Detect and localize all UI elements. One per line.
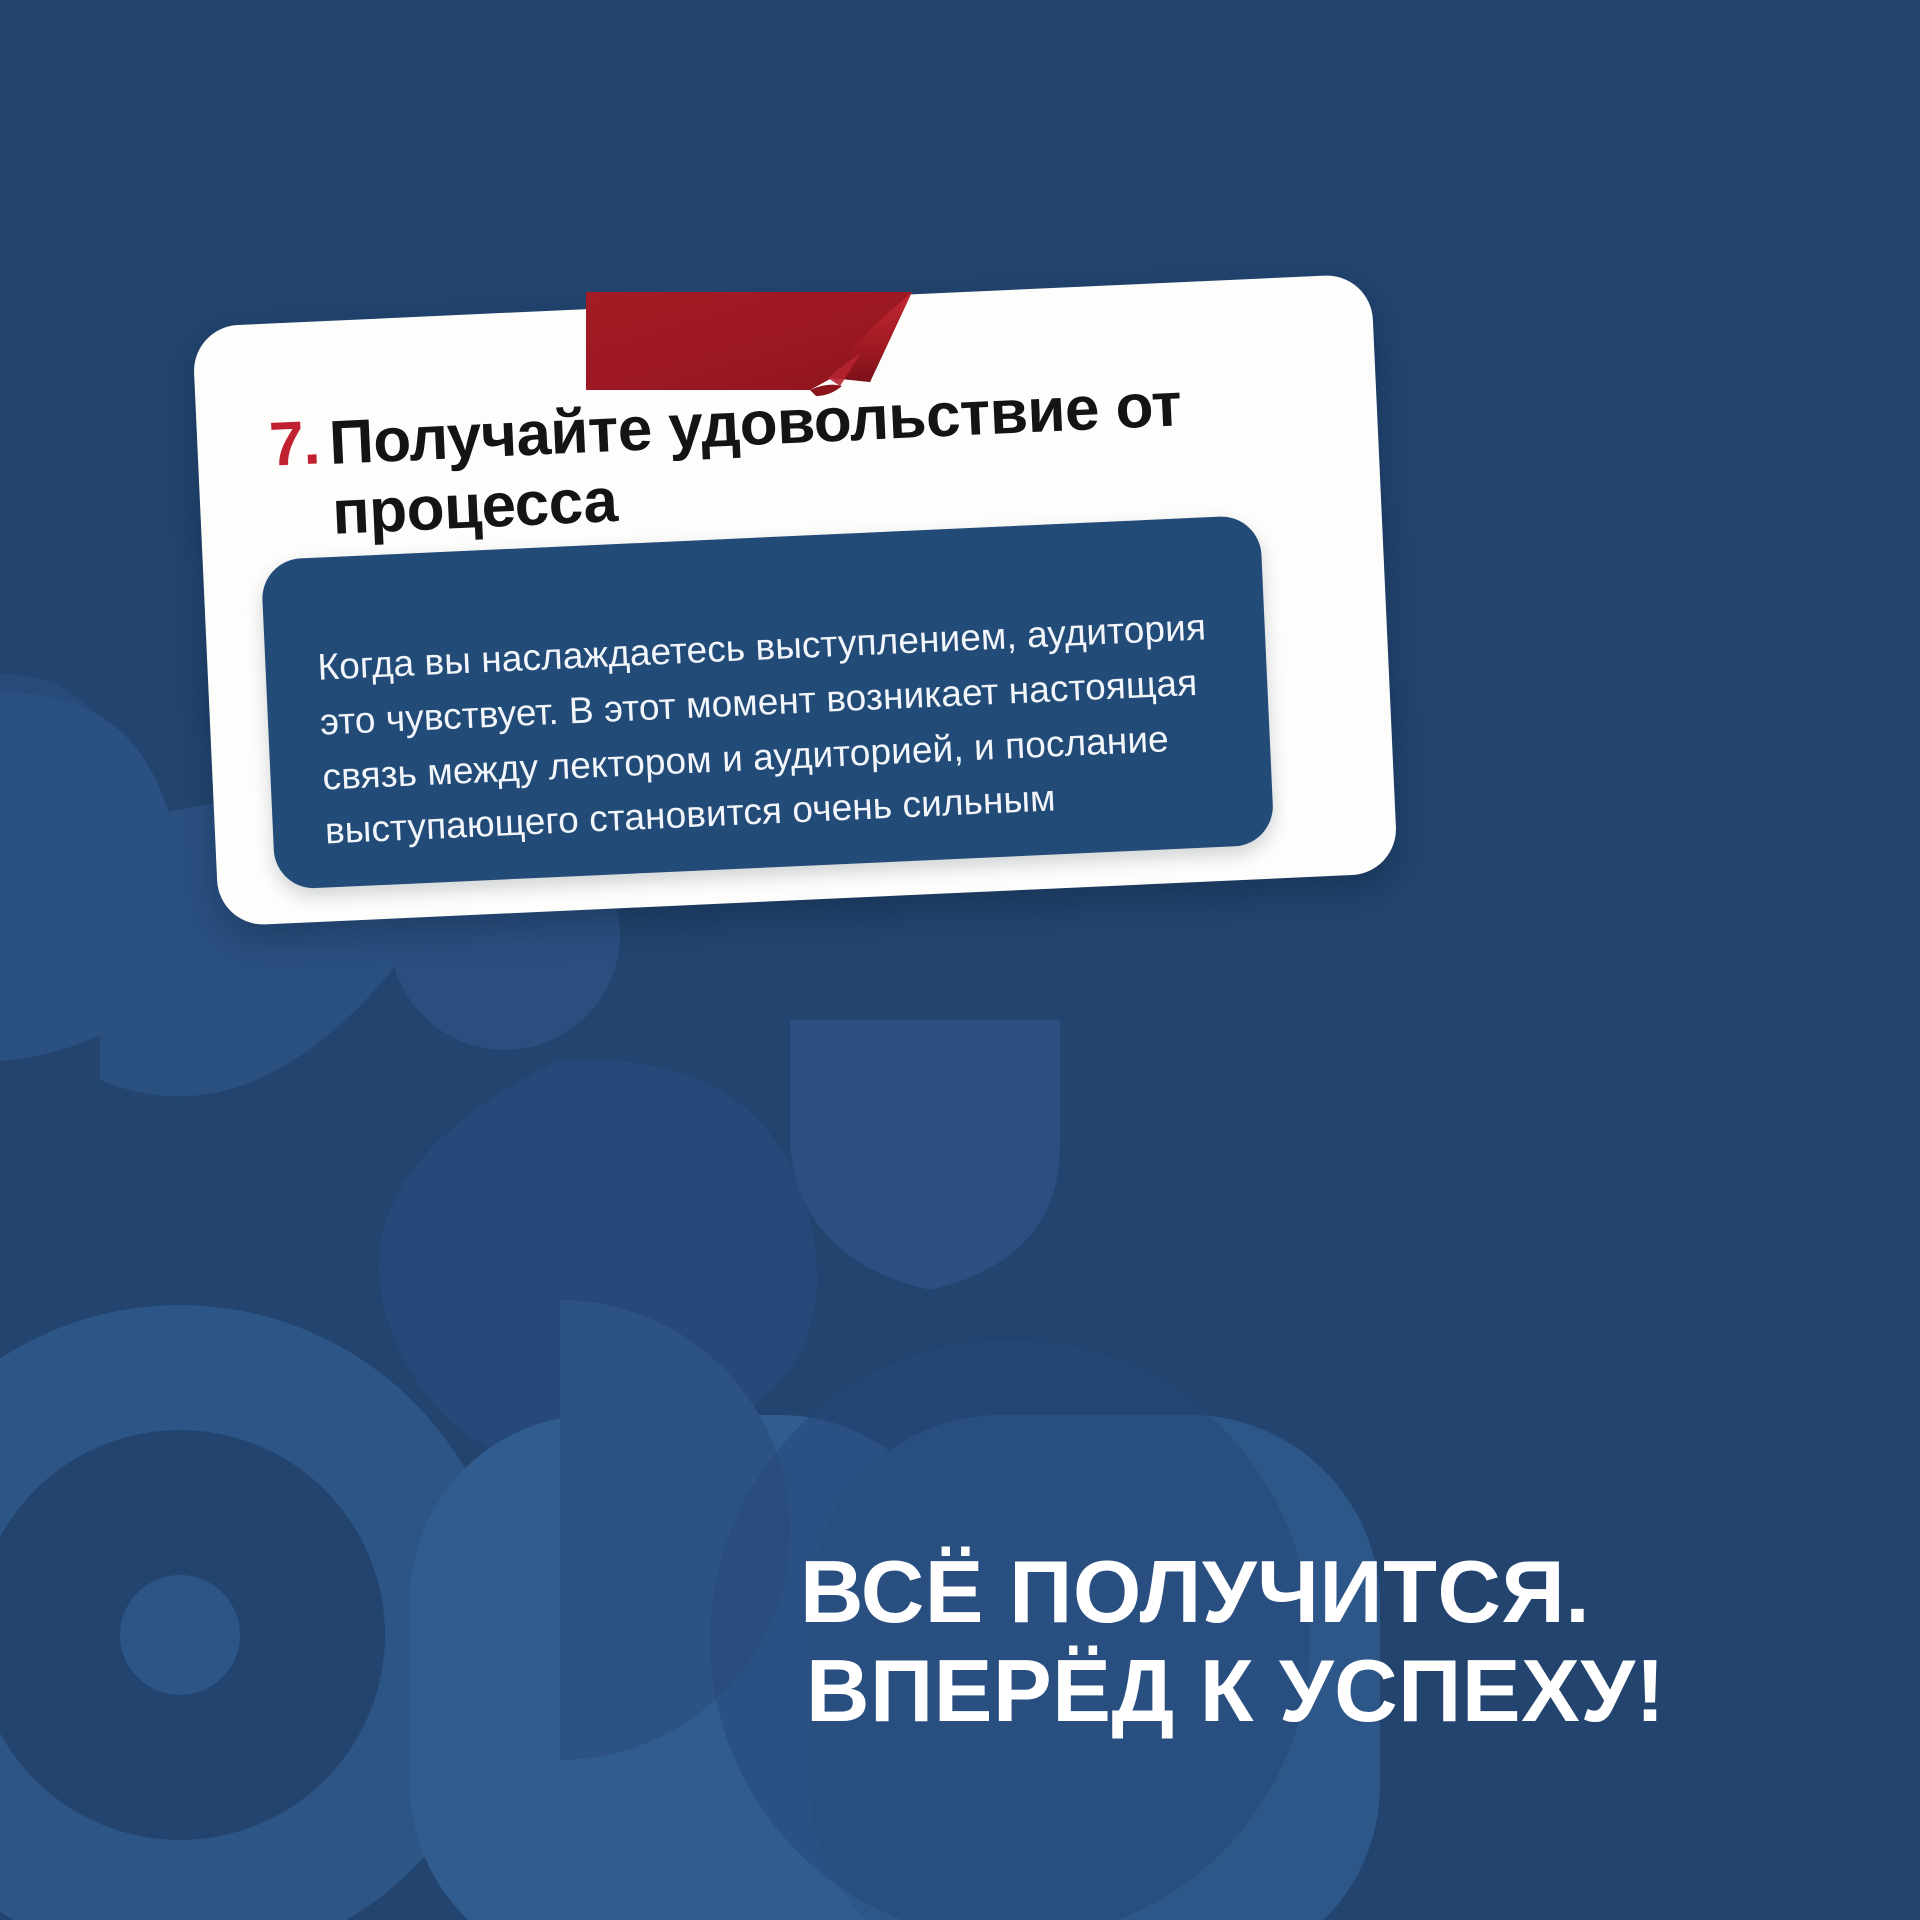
decor-v-shape-center <box>790 1020 1060 1290</box>
decor-ring-outer <box>0 1305 510 1920</box>
slide-canvas: 7. Получайте удовольствие от процесса Ко… <box>0 0 1920 1920</box>
decor-quarter-upper <box>560 1300 790 1530</box>
step-number: 7. <box>268 409 321 476</box>
closing-headline: ВСЁ ПОЛУЧИТСЯ. ВПЕРЁД К УСПЕХУ! <box>800 1543 1790 1740</box>
decor-quarter-lower <box>560 1530 790 1760</box>
decor-ring-gap <box>0 1430 385 1840</box>
red-tape <box>560 286 960 436</box>
decor-blob-center <box>379 1059 817 1465</box>
decor-petal-upper-left <box>0 693 181 1063</box>
closing-headline-line-2: ВПЕРЁД К УСПЕХУ! <box>806 1642 1790 1741</box>
closing-headline-line-1: ВСЁ ПОЛУЧИТСЯ. <box>800 1543 1790 1642</box>
highlight-panel-text: Когда вы наслаждаетесь выступлением, ауд… <box>316 599 1239 859</box>
highlight-panel: Когда вы наслаждаетесь выступлением, ауд… <box>261 515 1275 890</box>
decor-ring-core <box>120 1575 240 1695</box>
decor-faint-blob-topleft <box>0 674 134 1004</box>
